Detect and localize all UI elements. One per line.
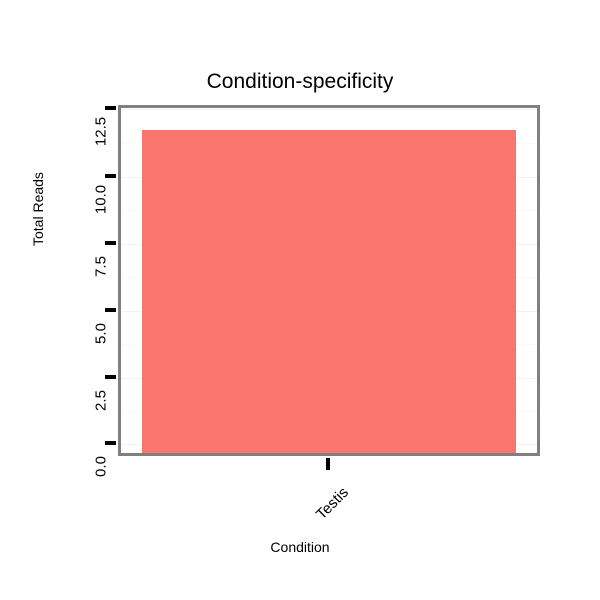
plot-panel (118, 105, 540, 456)
y-tick-label: 2.5 (93, 378, 110, 424)
y-tick-label: 0.0 (93, 444, 110, 490)
y-tick-label: 5.0 (93, 311, 110, 357)
plot-area (121, 108, 537, 453)
y-tick-label: 10.0 (93, 177, 110, 223)
chart-canvas: Condition-specificity Total Reads 12.5 1… (0, 0, 600, 600)
y-tick-label: 7.5 (93, 244, 110, 290)
y-axis-title: Total Reads (30, 226, 46, 246)
bar-testis (142, 130, 516, 453)
y-tick-label: 12.5 (93, 109, 110, 155)
x-tick-mark (326, 458, 330, 470)
chart-title: Condition-specificity (0, 70, 600, 94)
gridline-major (121, 109, 537, 110)
x-tick-label-testis: Testis (298, 484, 352, 538)
x-axis-title: Condition (0, 539, 600, 555)
